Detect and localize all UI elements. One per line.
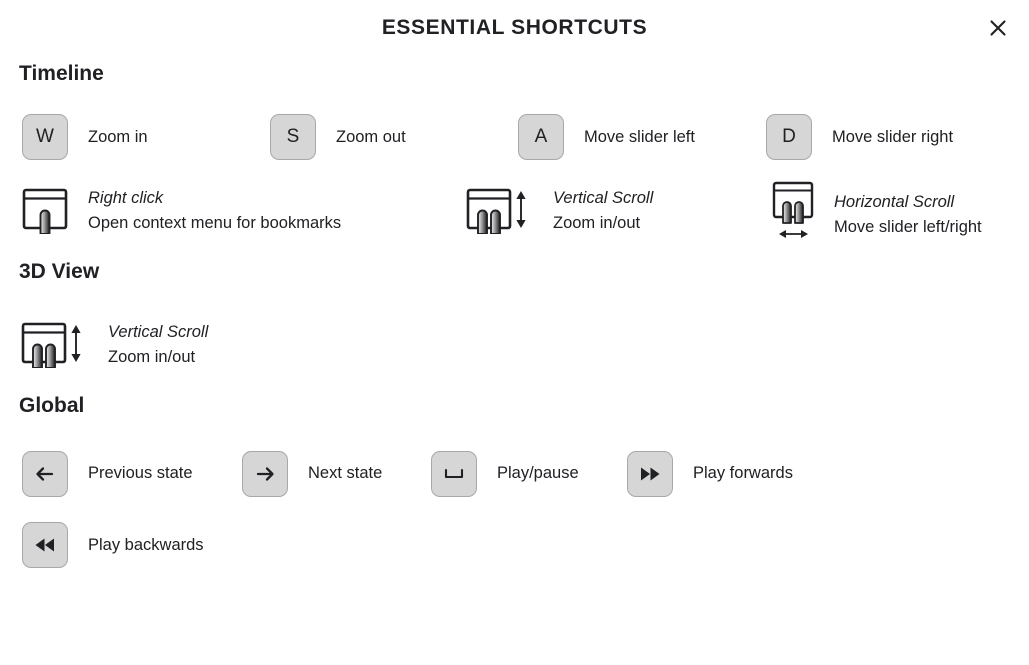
gesture-name-vertical-scroll-timeline: Vertical Scroll	[553, 186, 653, 211]
key-s[interactable]: S	[270, 114, 316, 160]
gesture-text-vertical-scroll-timeline: Vertical Scroll Zoom in/out	[553, 186, 653, 236]
fast-forward-icon	[636, 461, 664, 487]
arrow-right-icon	[252, 461, 278, 487]
key-a[interactable]: A	[518, 114, 564, 160]
key-arrow-right[interactable]	[242, 451, 288, 497]
trackpad-right-click-icon	[20, 182, 72, 239]
shortcut-label-next-state: Next state	[308, 464, 382, 483]
close-button[interactable]	[981, 12, 1015, 46]
shortcut-label-play-backwards: Play backwards	[88, 536, 204, 555]
shortcut-item-play-forwards[interactable]: Play forwards	[627, 451, 793, 497]
section-timeline: Timeline W Zoom in S Zoom out A Move sli…	[0, 62, 1029, 250]
shortcut-item-zoom-out[interactable]: S Zoom out	[270, 114, 406, 160]
key-d[interactable]: D	[766, 114, 812, 160]
close-icon	[988, 18, 1008, 41]
timeline-key-row: W Zoom in S Zoom out A Move slider left …	[0, 100, 1029, 174]
shortcut-item-play-pause[interactable]: Play/pause	[431, 451, 579, 497]
page-title: ESSENTIAL SHORTCUTS	[382, 16, 647, 40]
gesture-name-right-click: Right click	[88, 186, 341, 211]
dialog-header: ESSENTIAL SHORTCUTS	[0, 0, 1029, 56]
section-title-global: Global	[19, 394, 1029, 418]
shortcut-label-play-forwards: Play forwards	[693, 464, 793, 483]
gesture-text-horizontal-scroll: Horizontal Scroll Move slider left/right	[834, 190, 982, 240]
shortcut-item-zoom-in[interactable]: W Zoom in	[22, 114, 148, 160]
key-arrow-left[interactable]	[22, 451, 68, 497]
shortcut-label-zoom-out: Zoom out	[336, 128, 406, 147]
gesture-item-right-click[interactable]: Right click Open context menu for bookma…	[20, 182, 341, 239]
gesture-item-vertical-scroll-3d[interactable]: Vertical Scroll Zoom in/out	[20, 316, 208, 373]
gesture-item-horizontal-scroll[interactable]: Horizontal Scroll Move slider left/right	[770, 180, 982, 249]
shortcut-item-previous-state[interactable]: Previous state	[22, 451, 193, 497]
section-3d-view: 3D View	[0, 260, 1029, 390]
shortcut-item-play-backwards[interactable]: Play backwards	[22, 522, 204, 568]
arrow-left-icon	[32, 461, 58, 487]
key-rewind[interactable]	[22, 522, 68, 568]
global-key-row-1: Previous state Next state	[0, 432, 1029, 515]
gesture-desc-vertical-scroll-3d: Zoom in/out	[108, 345, 208, 370]
trackpad-horizontal-scroll-icon	[770, 180, 818, 249]
trackpad-vertical-scroll-icon	[465, 182, 537, 239]
shortcut-item-move-slider-left[interactable]: A Move slider left	[518, 114, 695, 160]
key-spacebar[interactable]	[431, 451, 477, 497]
gesture-desc-vertical-scroll-timeline: Zoom in/out	[553, 211, 653, 236]
section-title-timeline: Timeline	[19, 62, 1029, 86]
key-w[interactable]: W	[22, 114, 68, 160]
shortcut-label-previous-state: Previous state	[88, 464, 193, 483]
global-key-row-2: Play backwards	[0, 515, 1029, 575]
gesture-name-horizontal-scroll: Horizontal Scroll	[834, 190, 982, 215]
gesture-desc-right-click: Open context menu for bookmarks	[88, 211, 341, 236]
shortcut-label-move-slider-left: Move slider left	[584, 128, 695, 147]
gesture-name-vertical-scroll-3d: Vertical Scroll	[108, 320, 208, 345]
shortcut-item-next-state[interactable]: Next state	[242, 451, 382, 497]
shortcut-item-move-slider-right[interactable]: D Move slider right	[766, 114, 953, 160]
gesture-desc-horizontal-scroll: Move slider left/right	[834, 215, 982, 240]
spacebar-icon	[441, 461, 467, 487]
gesture-text-right-click: Right click Open context menu for bookma…	[88, 186, 341, 236]
shortcut-label-move-slider-right: Move slider right	[832, 128, 953, 147]
timeline-gesture-row: Right click Open context menu for bookma…	[0, 174, 1029, 250]
gesture-text-vertical-scroll-3d: Vertical Scroll Zoom in/out	[108, 320, 208, 370]
3d-view-gesture-row: Vertical Scroll Zoom in/out	[0, 298, 1029, 390]
gesture-item-vertical-scroll-timeline[interactable]: Vertical Scroll Zoom in/out	[465, 182, 653, 239]
shortcut-label-play-pause: Play/pause	[497, 464, 579, 483]
rewind-icon	[31, 532, 59, 558]
shortcut-label-zoom-in: Zoom in	[88, 128, 148, 147]
trackpad-vertical-scroll-icon	[20, 316, 92, 373]
section-title-3d-view: 3D View	[19, 260, 1029, 284]
key-fast-forward[interactable]	[627, 451, 673, 497]
section-global: Global Previous state	[0, 394, 1029, 575]
